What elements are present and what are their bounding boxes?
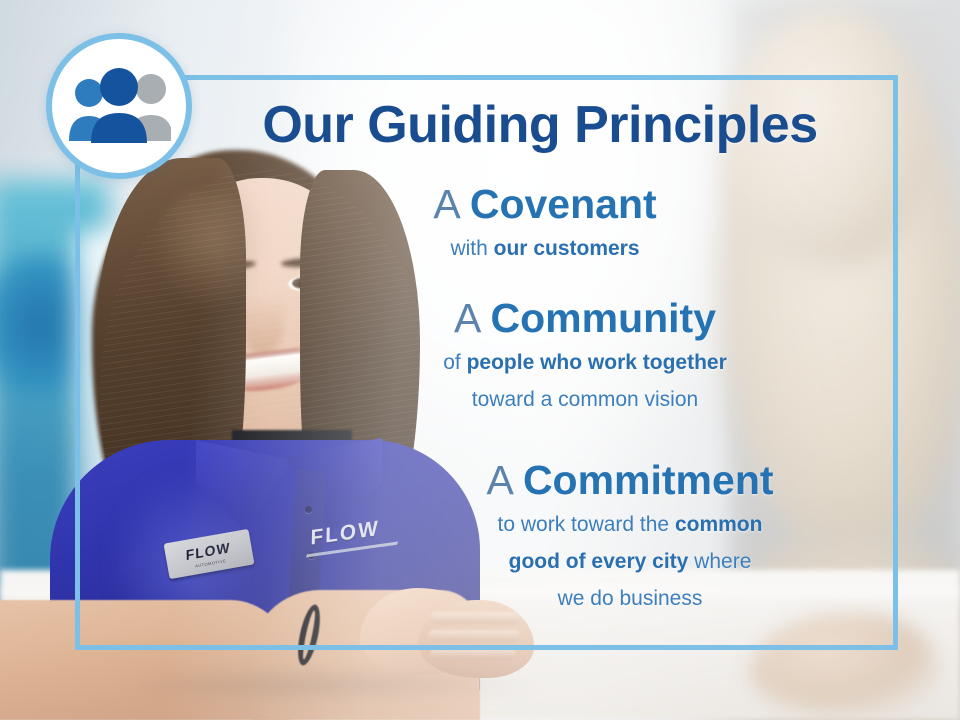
- principle-line: with our customers: [285, 236, 805, 263]
- principle-line: toward a common vision: [325, 387, 845, 414]
- principle-headline: A Commitment: [365, 459, 895, 502]
- line-bold: good of every city: [509, 550, 689, 573]
- principle-headline: A Community: [325, 297, 845, 340]
- guiding-principles-graphic: FLOW FLOW AUTOMOTIVE: [0, 0, 960, 720]
- principle-headline: A Covenant: [285, 183, 805, 226]
- principle-article: A: [486, 457, 511, 503]
- principle-commitment: A Commitment to work toward the common g…: [365, 459, 895, 613]
- line-bold: our customers: [494, 237, 640, 260]
- principle-community: A Community of people who work together …: [325, 297, 845, 414]
- line-lead: to work toward the: [498, 513, 675, 536]
- line-tail: where: [688, 550, 751, 573]
- line-bold: people who work together: [467, 351, 727, 374]
- line-bold: common: [675, 513, 763, 536]
- principle-line: to work toward the common: [365, 512, 895, 539]
- principle-line: good of every city where: [365, 549, 895, 576]
- principle-keyword: Community: [491, 295, 717, 341]
- page-title: Our Guiding Principles: [215, 95, 865, 155]
- line-lead: we do business: [558, 587, 703, 610]
- principle-keyword: Covenant: [470, 181, 657, 227]
- principle-article: A: [454, 295, 479, 341]
- line-lead: with: [450, 237, 493, 260]
- text-content: Our Guiding Principles A Covenant with o…: [75, 75, 898, 650]
- principle-keyword: Commitment: [523, 457, 774, 503]
- principle-line: we do business: [365, 586, 895, 613]
- line-lead: toward a common vision: [472, 388, 698, 411]
- principle-line: of people who work together: [325, 350, 845, 377]
- hand-shadow: [120, 668, 540, 702]
- line-lead: of: [443, 351, 466, 374]
- principle-article: A: [433, 181, 458, 227]
- principle-covenant: A Covenant with our customers: [285, 183, 805, 263]
